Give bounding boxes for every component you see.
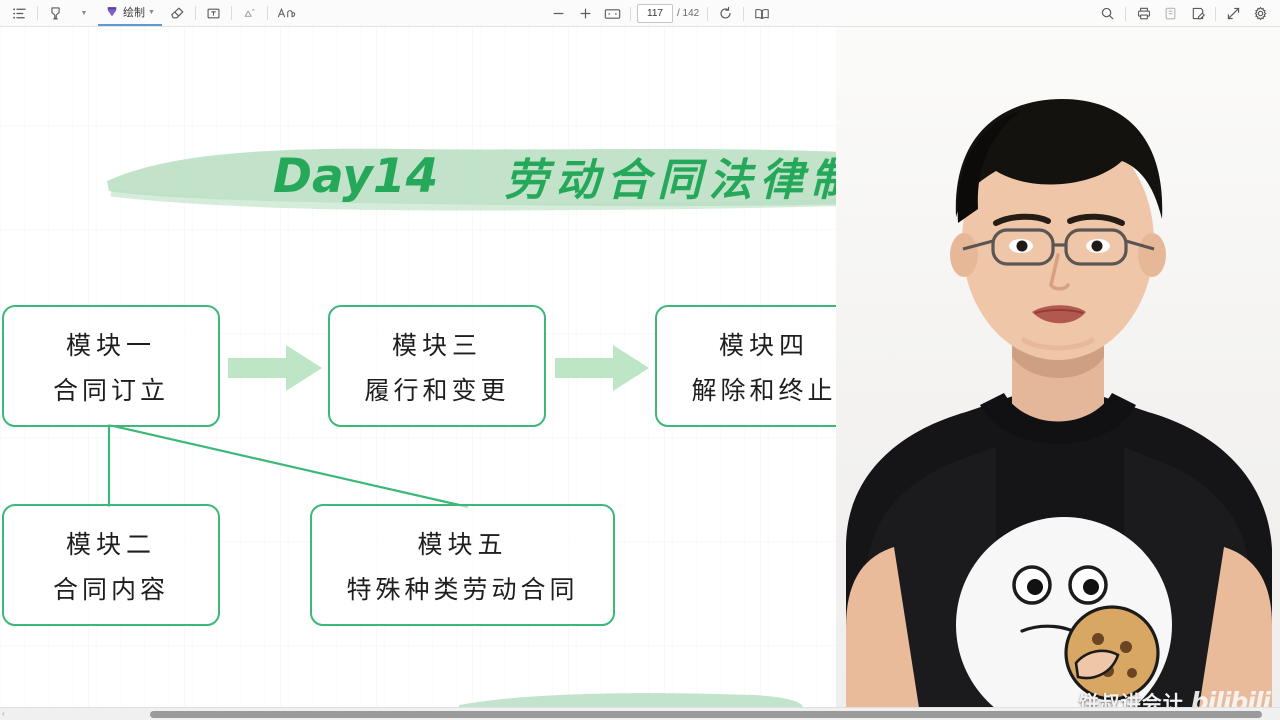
arrow-box1-to-box3-icon	[228, 345, 324, 391]
toolbar-separator	[707, 7, 708, 21]
presenter-video-overlay[interactable]: 饼叔讲会计 bilibili	[836, 27, 1280, 707]
flow-box-title: 模块四	[719, 326, 809, 362]
highlighter-icon[interactable]	[45, 3, 66, 24]
flow-box-module-1[interactable]: 模块一 合同订立	[2, 305, 220, 427]
flow-box-module-3[interactable]: 模块三 履行和变更	[328, 305, 546, 427]
connector-lines	[90, 423, 490, 509]
annotate-icon[interactable]	[275, 3, 298, 24]
toolbar-separator	[37, 6, 38, 20]
outline-icon[interactable]	[9, 3, 30, 24]
highlighter-dropdown-icon[interactable]: ▼	[72, 3, 93, 24]
shape-icon[interactable]	[239, 3, 260, 24]
pen-icon	[105, 5, 119, 19]
toolbar-separator	[1125, 7, 1126, 21]
pdf-reader-window: Day14 劳动合同法律制度 模块一 合同订立 模块三 履行和变更	[0, 0, 1280, 720]
toolbar-separator	[267, 6, 268, 20]
watermark-channel-name: 饼叔讲会计	[1079, 687, 1184, 707]
zoom-in-button[interactable]	[575, 3, 596, 24]
draw-dropdown-icon[interactable]: ▼	[148, 9, 155, 16]
tab-draw[interactable]: 绘制 ▼	[98, 1, 162, 26]
flow-box-title: 模块二	[66, 525, 156, 561]
toolbar-separator	[231, 6, 232, 20]
flow-box-subtitle: 解除和终止	[691, 371, 836, 407]
slide-title-day: Day14	[105, 149, 438, 204]
flow-box-title: 模块三	[392, 326, 482, 362]
edit-note-icon[interactable]	[1187, 3, 1208, 24]
flow-box-title: 模块一	[66, 326, 156, 362]
toolbar-separator	[743, 7, 744, 21]
flow-box-subtitle: 特殊种类劳动合同	[346, 570, 578, 606]
flow-box-module-2[interactable]: 模块二 合同内容	[2, 504, 220, 626]
flow-box-subtitle: 合同订立	[53, 371, 169, 407]
print-icon[interactable]	[1133, 3, 1154, 24]
fit-page-button[interactable]	[602, 3, 623, 24]
next-section-banner: 模块一 合同订立	[455, 687, 805, 707]
toolbar-right-group	[1094, 0, 1274, 27]
book-mode-icon[interactable]	[751, 3, 772, 24]
zoom-out-button[interactable]	[548, 3, 569, 24]
bookmark-icon[interactable]	[1160, 3, 1181, 24]
presenter-figure	[836, 27, 1280, 707]
settings-icon[interactable]	[1250, 3, 1271, 24]
search-icon[interactable]	[1097, 3, 1118, 24]
rotate-icon[interactable]	[715, 3, 736, 24]
toolbar-separator	[630, 7, 631, 21]
watermark-brand: bilibili	[1191, 687, 1270, 707]
fullscreen-icon[interactable]	[1223, 3, 1244, 24]
brush-stroke-bottom-icon	[455, 687, 805, 707]
flow-box-title: 模块五	[417, 525, 507, 561]
toolbar-separator	[1215, 7, 1216, 21]
tab-draw-label: 绘制	[123, 4, 145, 20]
text-box-icon[interactable]	[203, 3, 224, 24]
horizontal-scrollbar[interactable]: ‹	[0, 707, 1280, 720]
page-number-input[interactable]: 117	[637, 4, 673, 23]
toolbar-separator	[195, 6, 196, 20]
scroll-left-arrow[interactable]: ‹	[2, 709, 5, 718]
document-canvas[interactable]: Day14 劳动合同法律制度 模块一 合同订立 模块三 履行和变更	[0, 27, 1280, 707]
channel-watermark: 饼叔讲会计 bilibili	[1079, 687, 1270, 707]
page-total-label: / 142	[677, 8, 699, 19]
flow-box-module-5[interactable]: 模块五 特殊种类劳动合同	[310, 504, 615, 626]
flow-box-subtitle: 合同内容	[53, 570, 169, 606]
toolbar: ▼ 绘制 ▼	[0, 0, 1280, 27]
flow-box-subtitle: 履行和变更	[364, 371, 509, 407]
scrollbar-thumb[interactable]	[150, 711, 1262, 718]
toolbar-center-group: 117 / 142	[545, 0, 775, 27]
arrow-box3-to-box4-icon	[555, 345, 651, 391]
toolbar-left-group: ▼ 绘制 ▼	[0, 1, 301, 26]
eraser-icon[interactable]	[167, 3, 188, 24]
